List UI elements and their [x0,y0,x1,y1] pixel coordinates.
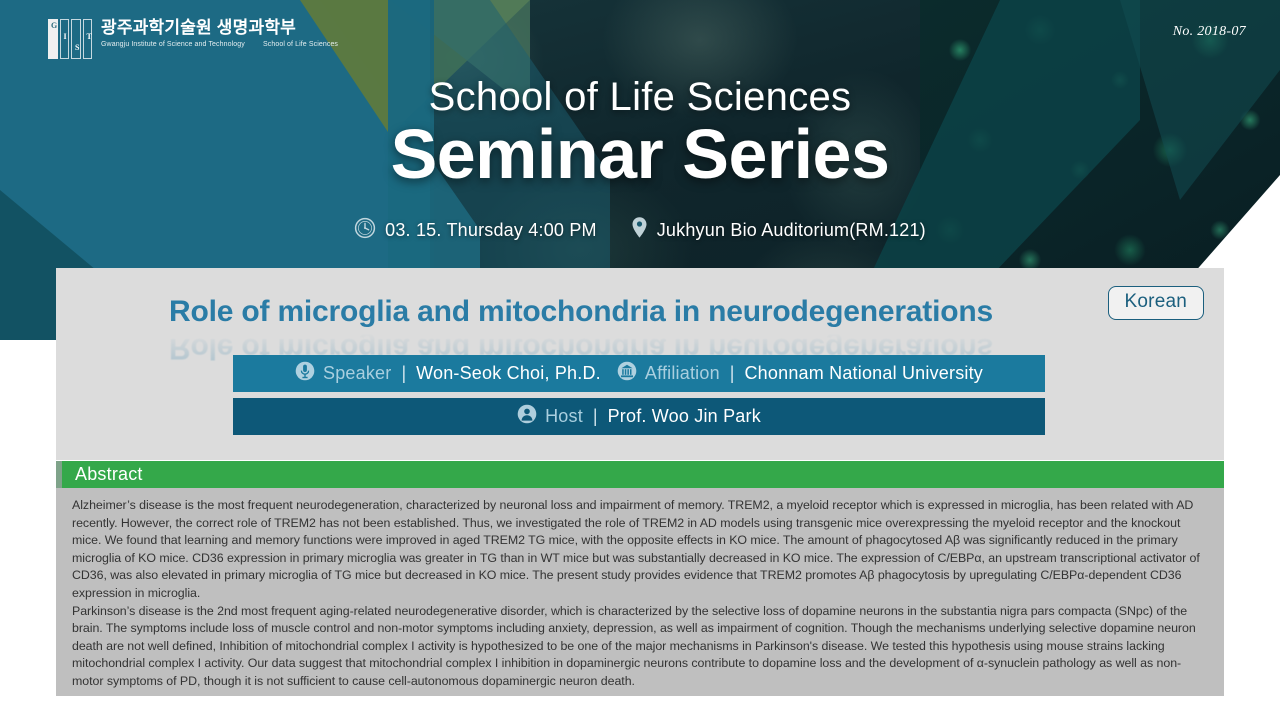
host-field: Host | Prof. Woo Jin Park [517,404,761,429]
gist-logo-school-en: School of Life Sciences [263,41,338,48]
gist-logo-letter-s: S [75,44,79,52]
seminar-panel: Role of microglia and mitochondria in ne… [56,268,1224,460]
abstract-header: Abstract [56,461,1224,488]
footer-strip [0,696,1280,720]
seminar-title: Role of microglia and mitochondria in ne… [56,294,1224,330]
seminar-title-block: Role of microglia and mitochondria in ne… [56,268,1224,354]
host-value: Prof. Woo Jin Park [608,406,761,427]
gist-logo-text: 광주과학기술원 생명과학부 Gwangju Institute of Scien… [101,18,338,48]
meta-datetime-text: 03. 15. Thursday 4:00 PM [385,220,597,241]
speaker-value: Won-Seok Choi, Ph.D. [416,363,601,384]
abstract-body: Alzheimer’s disease is the most frequent… [56,488,1224,696]
gist-logo-name-korean: 광주과학기술원 생명과학부 [101,18,338,38]
abstract-paragraph-1: Alzheimer’s disease is the most frequent… [72,497,1210,603]
seminar-poster: G I S T 광주과학기술원 생명과학부 Gwangju Institute … [0,0,1280,720]
gist-logo-letter-g: G [51,22,57,30]
gist-logo-icon: G I S T [48,19,92,59]
gist-logo-university-en: Gwangju Institute of Science and Technol… [101,41,245,48]
affiliation-label: Affiliation [645,363,720,384]
bank-building-icon [617,361,637,386]
gist-logo-letter-i: I [64,33,67,41]
map-pin-icon [631,216,648,244]
abstract-heading: Abstract [75,464,143,485]
gist-logo-bar-s: S [71,19,81,59]
host-label: Host [545,406,583,427]
header-titles: School of Life Sciences Seminar Series [0,74,1280,192]
host-separator: | [593,406,598,427]
gist-logo-bar-g: G [48,19,58,59]
speaker-affiliation-bar: Speaker | Won-Seok Choi, Ph.D. [233,355,1045,392]
header-meta: 03. 15. Thursday 4:00 PM Jukhyun Bio Aud… [0,216,1280,244]
gist-logo-letter-t: T [87,33,92,41]
language-badge[interactable]: Korean [1108,286,1204,320]
gist-logo-bar-i: I [60,19,70,59]
affiliation-value: Chonnam National University [744,363,983,384]
affiliation-field: Affiliation | Chonnam National Universit… [617,361,983,386]
speaker-field: Speaker | Won-Seok Choi, Ph.D. [295,361,601,386]
abstract-paragraph-2: Parkinson’s disease is the 2nd most freq… [72,603,1210,691]
gist-logo-bar-t: T [83,19,93,59]
meta-datetime: 03. 15. Thursday 4:00 PM [354,217,597,244]
gist-logo: G I S T 광주과학기술원 생명과학부 Gwangju Institute … [48,18,338,59]
person-icon [517,404,537,429]
affiliation-separator: | [730,363,735,384]
gist-logo-name-english: Gwangju Institute of Science and Technol… [101,41,338,48]
abstract-header-marker [56,461,62,488]
speaker-separator: | [401,363,406,384]
clock-icon [354,217,376,244]
meta-location: Jukhyun Bio Auditorium(RM.121) [631,216,926,244]
microphone-icon [295,361,315,386]
header-title-line2: Seminar Series [0,116,1280,192]
host-bar: Host | Prof. Woo Jin Park [233,398,1045,435]
speaker-label: Speaker [323,363,391,384]
header-title-line1: School of Life Sciences [0,74,1280,120]
issue-number: No. 2018-07 [1173,24,1246,40]
meta-location-text: Jukhyun Bio Auditorium(RM.121) [657,220,926,241]
